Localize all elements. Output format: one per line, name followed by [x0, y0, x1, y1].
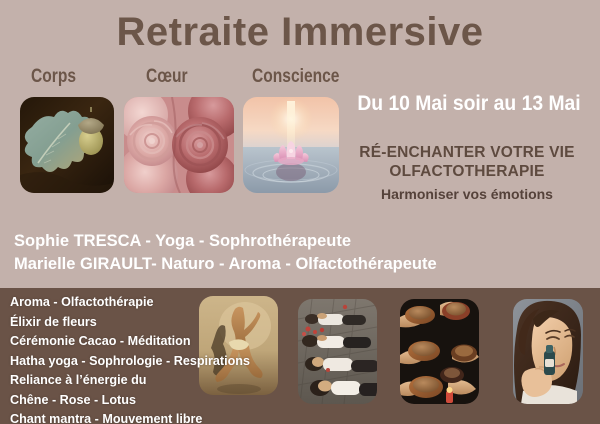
tagline-line-1: RÉ-ENCHANTER VOTRE VIE [336, 143, 598, 162]
offering-item: Reliance à l’énergie du [10, 371, 300, 391]
offering-item: Hatha yoga - Sophrologie - Respirations [10, 352, 300, 372]
page-title: Retraite Immersive [0, 12, 600, 52]
offering-item: Chant mantra - Mouvement libre [10, 410, 300, 424]
pink-roses-photo [124, 97, 234, 193]
tagline-line-2: OLFACTOTHERAPIE [336, 162, 598, 181]
offering-item: Élixir de fleurs [10, 313, 300, 333]
offering-item: Aroma - Olfactothérapie [10, 293, 300, 313]
practitioner-2: Marielle GIRAULT- Naturo - Aroma - Olfac… [14, 253, 594, 276]
poster-canvas: Retraite Immersive Corps Cœur Conscience [0, 0, 600, 424]
offering-item: Chêne - Rose - Lotus [10, 391, 300, 411]
offerings-list: Aroma - Olfactothérapie Élixir de fleurs… [10, 293, 300, 424]
tagline-block: RÉ-ENCHANTER VOTRE VIE OLFACTOTHERAPIE H… [336, 143, 598, 203]
tagline-line-3: Harmoniser vos émotions [336, 186, 598, 204]
relaxation-group-photo [298, 299, 377, 404]
pillars-row: Corps Cœur Conscience [20, 66, 340, 92]
practitioner-1: Sophie TRESCA - Yoga - Sophrothérapeute [14, 230, 594, 253]
top-section: Retraite Immersive Corps Cœur Conscience [0, 0, 600, 288]
retreat-dates: Du 10 Mai soir au 13 Mai [350, 92, 587, 116]
lotus-sunset-photo [243, 97, 339, 193]
essential-oil-photo [513, 299, 583, 404]
cacao-ceremony-photo [400, 299, 479, 404]
oak-leaf-acorn-photo [20, 97, 114, 193]
practitioners-block: Sophie TRESCA - Yoga - Sophrothérapeute … [14, 230, 594, 277]
pillar-coeur: Cœur [146, 66, 188, 88]
pillar-conscience: Conscience [252, 66, 339, 88]
pillar-corps: Corps [31, 66, 76, 88]
offering-item: Cérémonie Cacao - Méditation [10, 332, 300, 352]
